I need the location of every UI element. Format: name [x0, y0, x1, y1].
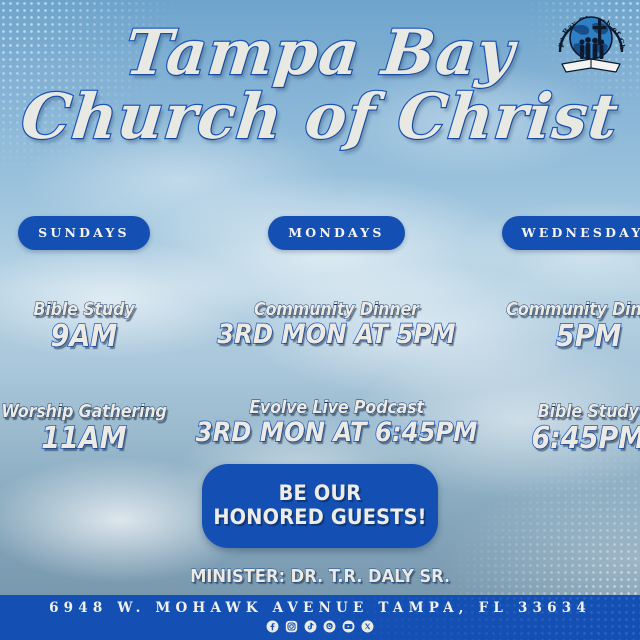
day-pill-sundays[interactable]: SUNDAYS [18, 216, 150, 250]
event-name: Evolve Live Podcast [192, 398, 480, 418]
event-item: Bible Study 9AM [29, 300, 139, 354]
event-name: Bible Study [33, 300, 134, 320]
event-time: 3RD MON AT 5PM [217, 319, 455, 350]
title-line-2: Church of Christ [0, 88, 640, 146]
title-line-1: Tampa Bay [0, 24, 640, 82]
minister-label: MINISTER: DR. T.R. DALY SR. [26, 566, 615, 587]
schedule-columns: SUNDAYS Bible Study 9AM Worship Gatherin… [0, 216, 640, 456]
x-twitter-icon[interactable] [361, 620, 374, 633]
threads-icon[interactable] [323, 620, 336, 633]
schedule-column-sundays: SUNDAYS Bible Study 9AM Worship Gatherin… [0, 216, 174, 456]
footer-bar: 6948 W. MOHAWK AVENUE TAMPA, FL 33634 [0, 595, 640, 640]
event-item: Community Dinner 3RD MON AT 5PM [204, 300, 469, 350]
facebook-icon[interactable] [266, 620, 279, 633]
social-links [0, 620, 640, 633]
day-pill-mondays[interactable]: MONDAYS [268, 216, 404, 250]
cta-line-2: HONORED GUESTS! [211, 505, 428, 529]
youtube-icon[interactable] [342, 620, 355, 633]
event-name: Worship Gathering [1, 402, 166, 422]
event-item: Worship Gathering 11AM [0, 402, 174, 456]
schedule-column-wednesdays: WEDNESDAYS Community Dinner 5PM Bible St… [499, 216, 640, 456]
event-name: Community Dinner [506, 300, 640, 320]
event-item: Evolve Live Podcast 3RD MON AT 6:45PM [180, 398, 493, 448]
event-time: 5PM [508, 319, 640, 354]
event-name: Bible Study [530, 402, 640, 422]
tiktok-icon[interactable] [304, 620, 317, 633]
be-our-honored-guests-button[interactable]: BE OUR HONORED GUESTS! [202, 464, 438, 548]
event-name: Community Dinner [215, 300, 459, 320]
event-time: 3RD MON AT 6:45PM [196, 417, 478, 448]
poster-canvas: Tampa Bay Church of Christ [0, 0, 640, 640]
address-text: 6948 W. MOHAWK AVENUE TAMPA, FL 33634 [0, 595, 640, 616]
event-item: Community Dinner 5PM [499, 300, 640, 354]
day-pill-wednesdays[interactable]: WEDNESDAYS [502, 216, 640, 250]
cta-line-1: BE OUR [211, 481, 428, 505]
event-time: 6:45PM [532, 421, 640, 456]
event-time: 9AM [34, 319, 133, 354]
event-item: Bible Study 6:45PM [525, 402, 640, 456]
page-title: Tampa Bay Church of Christ [0, 24, 640, 147]
instagram-icon[interactable] [285, 620, 298, 633]
event-time: 11AM [3, 421, 165, 456]
schedule-column-mondays: MONDAYS Community Dinner 3RD MON AT 5PM … [180, 216, 493, 456]
